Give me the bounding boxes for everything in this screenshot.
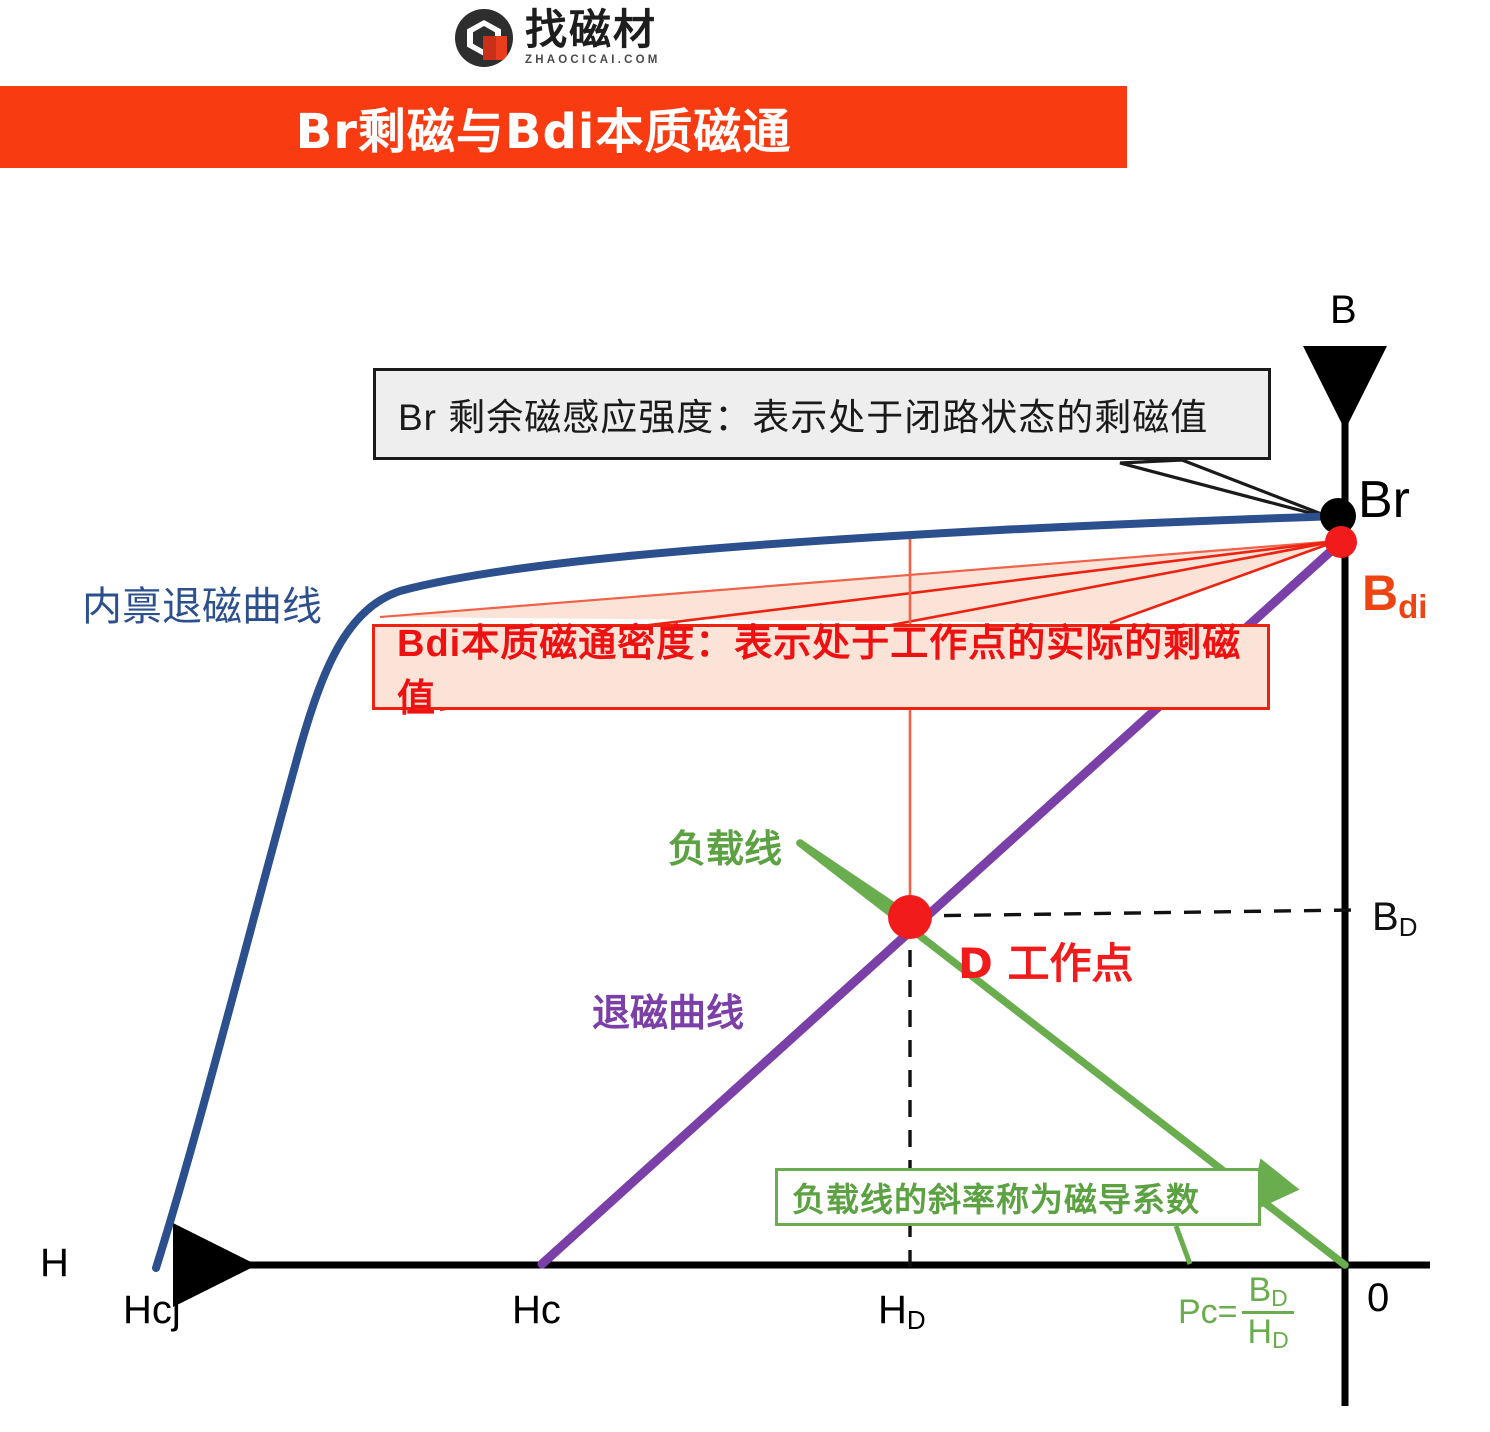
pc-formula-lhs: Pc= xyxy=(1178,1293,1238,1332)
pc-formula-numerator-sub: D xyxy=(1271,1285,1288,1311)
chart-svg xyxy=(0,168,1490,1432)
d-operating-point xyxy=(888,895,932,939)
pc-callout-text: 负载线的斜率称为磁导系数 xyxy=(778,1173,1200,1221)
bd-dashed-line xyxy=(914,910,1352,916)
br-callout-box: Br 剩余磁感应强度：表示处于闭路状态的剩磁值 xyxy=(373,368,1271,460)
br-callout-text: Br 剩余磁感应强度：表示处于闭路状态的剩磁值 xyxy=(376,387,1208,441)
bdi-point xyxy=(1325,526,1357,558)
x-axis-label: H xyxy=(40,1241,69,1286)
brand-name-en: ZHAOCICAI.COM xyxy=(525,55,661,67)
x-tick-hc: Hc xyxy=(512,1288,561,1333)
zhaocicai-logo-icon xyxy=(455,9,513,67)
x-tick-hd: HD xyxy=(878,1288,926,1336)
bdi-value-label: Bdi xyxy=(1362,564,1427,626)
x-tick-hd-sub: D xyxy=(907,1305,926,1335)
bdi-callout-text: Bdi本质磁通密度：表示处于工作点的实际的剩磁值 xyxy=(375,612,1267,722)
magnetic-curve-chart: 内禀退磁曲线 退磁曲线 负载线 Br Bdi BD D 工作点 H B Hcj … xyxy=(0,168,1490,1432)
page-title-bar: Br剩磁与Bdi本质磁通 xyxy=(0,86,1127,168)
page-title: Br剩磁与Bdi本质磁通 xyxy=(296,92,792,162)
pc-formula: Pc= BD HD xyxy=(1178,1273,1295,1353)
logo-bar: 找磁材 ZHAOCICAI.COM xyxy=(0,0,1490,85)
bd-value-label-main: B xyxy=(1372,895,1399,939)
br-value-label: Br xyxy=(1358,470,1410,530)
operating-point-label: D 工作点 xyxy=(958,930,1134,991)
pc-formula-fraction: BD HD xyxy=(1242,1273,1295,1353)
br-callout-tail xyxy=(1120,460,1337,520)
y-axis-label: B xyxy=(1330,288,1357,333)
intrinsic-curve-label: 内禀退磁曲线 xyxy=(82,574,322,632)
pc-formula-denominator: HD xyxy=(1242,1314,1295,1352)
pc-formula-numerator: BD xyxy=(1242,1273,1293,1314)
brand-name-cn: 找磁材 xyxy=(525,9,661,51)
bdi-value-label-main: B xyxy=(1362,565,1398,621)
pc-callout-box: 负载线的斜率称为磁导系数 xyxy=(775,1168,1261,1226)
pc-formula-numerator-main: B xyxy=(1248,1271,1271,1309)
pc-formula-denominator-main: H xyxy=(1248,1313,1273,1351)
pc-callout-tail xyxy=(1176,1226,1190,1264)
bd-value-label: BD xyxy=(1372,895,1417,943)
brand-text: 找磁材 ZHAOCICAI.COM xyxy=(525,9,661,67)
bdi-callout-box: Bdi本质磁通密度：表示处于工作点的实际的剩磁值 xyxy=(372,624,1270,710)
bd-value-label-sub: D xyxy=(1399,912,1418,942)
x-tick-hd-main: H xyxy=(878,1288,907,1332)
brand-logo: 找磁材 ZHAOCICAI.COM xyxy=(455,9,661,67)
load-line-label: 负载线 xyxy=(668,818,782,873)
bdi-value-label-sub: di xyxy=(1398,588,1427,625)
origin-label: 0 xyxy=(1367,1276,1389,1321)
pc-formula-denominator-sub: D xyxy=(1272,1327,1289,1353)
demagnetization-curve-label: 退磁曲线 xyxy=(592,982,744,1037)
x-tick-hcj: Hcj xyxy=(123,1288,181,1333)
